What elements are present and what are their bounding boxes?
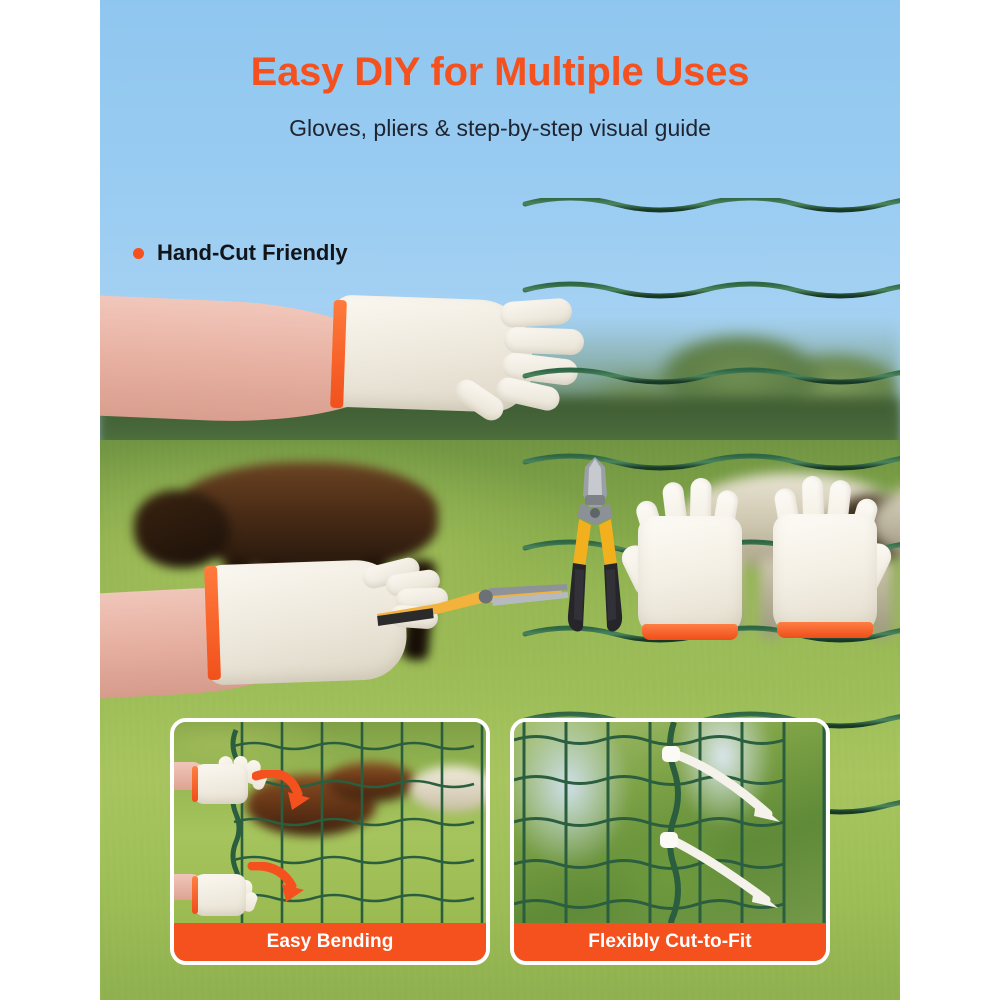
pliers-tool xyxy=(555,455,635,635)
card-caption-cut-to-fit: Flexibly Cut-to-Fit xyxy=(514,923,826,961)
page-subtitle: Gloves, pliers & step-by-step visual gui… xyxy=(0,115,1000,142)
bend-arrow-icon xyxy=(252,770,314,812)
card-caption-easy-bending: Easy Bending xyxy=(174,923,486,961)
zip-tie xyxy=(656,744,786,828)
main-product-photo: Easy Bending xyxy=(100,0,900,1000)
card-cut-to-fit-photo xyxy=(514,722,826,923)
bend-arrow-icon xyxy=(246,862,308,904)
feature-bullet-label: Hand-Cut Friendly xyxy=(157,240,348,266)
zip-tie xyxy=(654,830,784,914)
card-flexibly-cut-to-fit[interactable]: Flexibly Cut-to-Fit xyxy=(510,718,830,965)
bullet-dot-icon xyxy=(133,248,144,259)
feature-bullet: Hand-Cut Friendly xyxy=(133,240,348,266)
card-easy-bending[interactable]: Easy Bending xyxy=(170,718,490,965)
work-glove-right xyxy=(765,468,885,638)
page-title: Easy DIY for Multiple Uses xyxy=(0,50,1000,95)
work-glove-left xyxy=(630,470,750,640)
product-feature-banner: Easy Bending xyxy=(0,0,1000,1000)
card-easy-bending-photo xyxy=(174,722,486,923)
